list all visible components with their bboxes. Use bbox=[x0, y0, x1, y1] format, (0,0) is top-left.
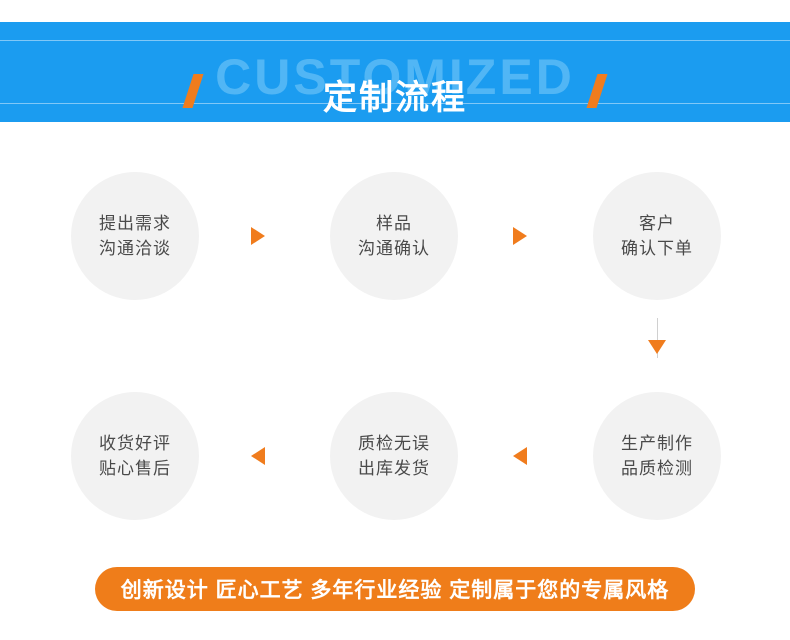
node-1-line1: 提出需求 bbox=[99, 211, 171, 236]
flow-node-2: 样品 沟通确认 bbox=[330, 172, 458, 300]
customization-process-infographic: CUSTOMIZED 定制流程 提出需求 沟通洽谈 样品 沟通确认 客户 确认下… bbox=[0, 0, 790, 640]
node-6-label: 收货好评 贴心售后 bbox=[71, 392, 199, 520]
arrow-node1-to-node2-icon bbox=[251, 227, 265, 245]
node-5-line2: 出库发货 bbox=[358, 456, 430, 481]
node-4-line2: 品质检测 bbox=[621, 456, 693, 481]
node-3-line1: 客户 bbox=[639, 211, 675, 236]
arrow-node4-to-node5-icon bbox=[513, 447, 527, 465]
node-4-label: 生产制作 品质检测 bbox=[593, 392, 721, 520]
flow-node-6: 收货好评 贴心售后 bbox=[71, 392, 199, 520]
node-4-line1: 生产制作 bbox=[621, 431, 693, 456]
node-2-line2: 沟通确认 bbox=[358, 236, 430, 261]
flow-node-3: 客户 确认下单 bbox=[593, 172, 721, 300]
flow-node-5: 质检无误 出库发货 bbox=[330, 392, 458, 520]
arrow-node5-to-node6-icon bbox=[251, 447, 265, 465]
header-banner: CUSTOMIZED 定制流程 bbox=[0, 22, 790, 122]
arrow-node3-to-node4-icon bbox=[648, 340, 666, 354]
flow-node-1: 提出需求 沟通洽谈 bbox=[71, 172, 199, 300]
node-1-line2: 沟通洽谈 bbox=[99, 236, 171, 261]
node-3-line2: 确认下单 bbox=[621, 236, 693, 261]
flow-node-4: 生产制作 品质检测 bbox=[593, 392, 721, 520]
node-3-label: 客户 确认下单 bbox=[593, 172, 721, 300]
node-1-label: 提出需求 沟通洽谈 bbox=[71, 172, 199, 300]
node-2-line1: 样品 bbox=[376, 211, 412, 236]
footer-slogan-text: 创新设计 匠心工艺 多年行业经验 定制属于您的专属风格 bbox=[121, 574, 670, 604]
node-2-label: 样品 沟通确认 bbox=[330, 172, 458, 300]
banner-top-rule bbox=[0, 40, 790, 41]
node-6-line1: 收货好评 bbox=[99, 431, 171, 456]
node-5-label: 质检无误 出库发货 bbox=[330, 392, 458, 520]
node-6-line2: 贴心售后 bbox=[99, 456, 171, 481]
footer-slogan-banner: 创新设计 匠心工艺 多年行业经验 定制属于您的专属风格 bbox=[95, 567, 695, 611]
page-title: 定制流程 bbox=[0, 78, 790, 118]
arrow-node2-to-node3-icon bbox=[513, 227, 527, 245]
node-5-line1: 质检无误 bbox=[358, 431, 430, 456]
